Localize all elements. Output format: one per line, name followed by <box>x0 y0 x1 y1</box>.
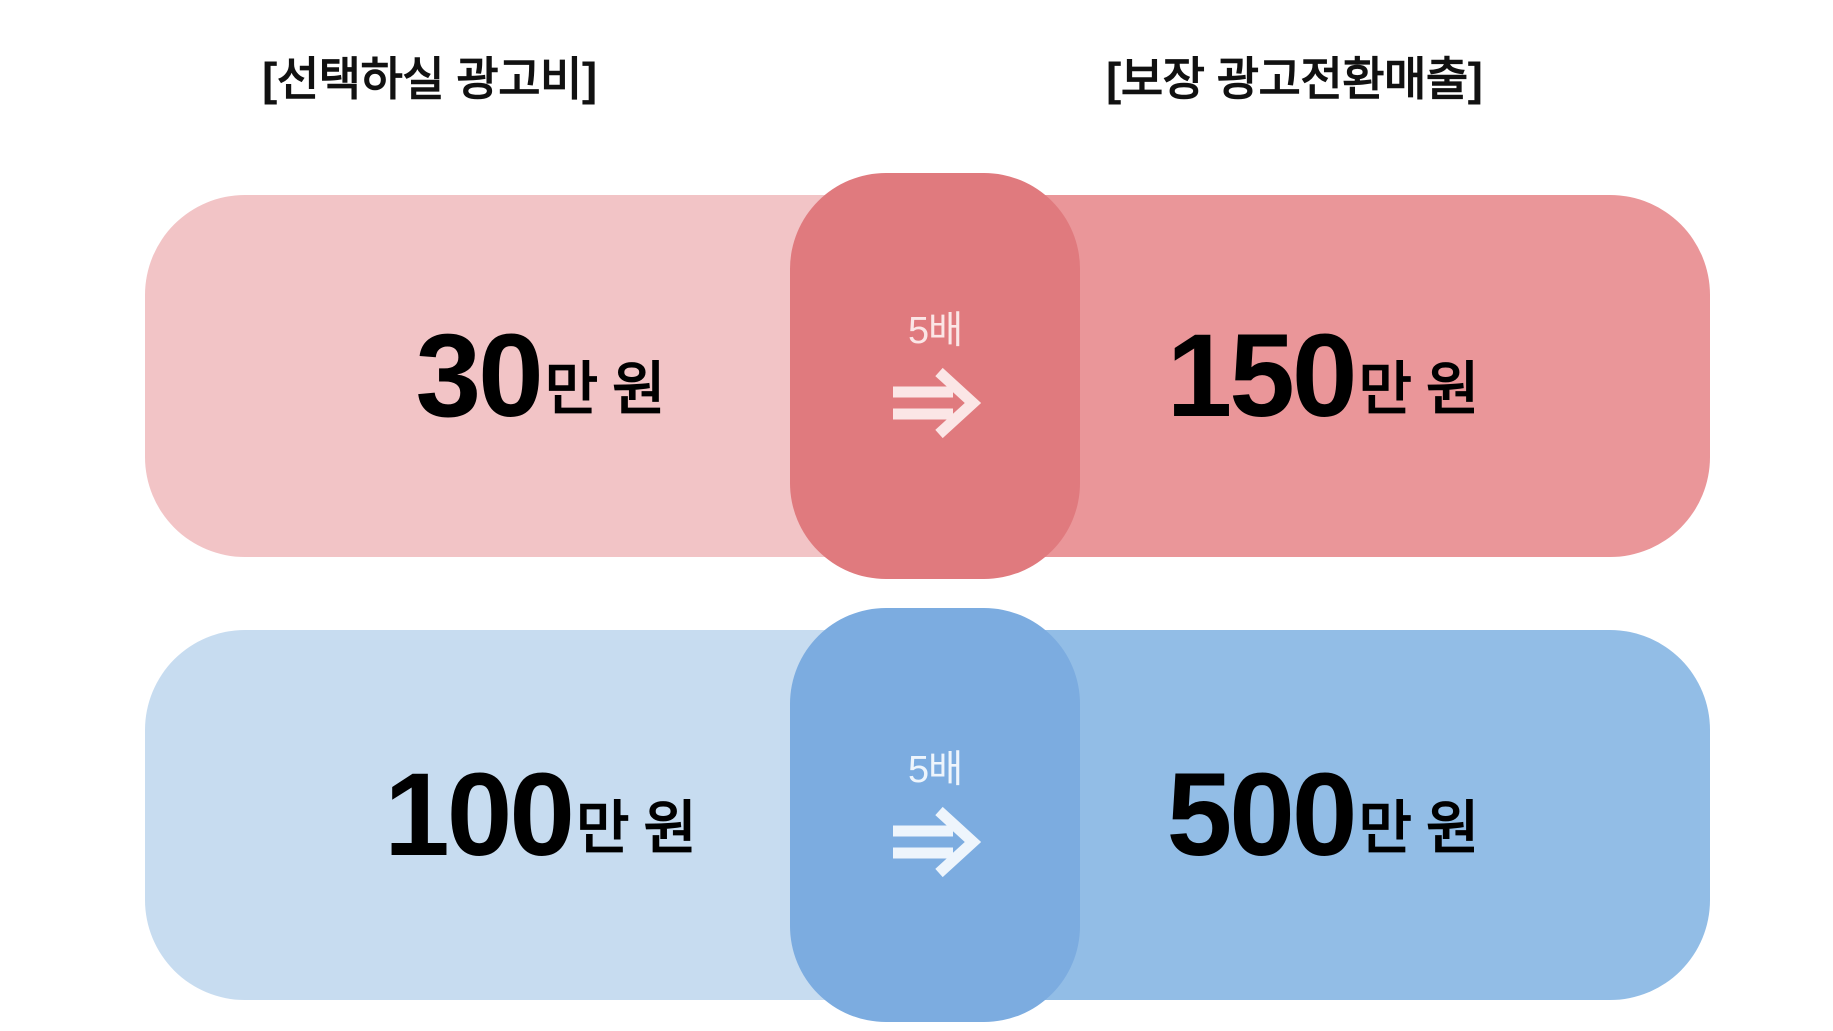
comparison-row-blue: 100 만 원 5배 500 만 원 <box>145 630 1710 1000</box>
blue-revenue-number: 500 <box>1167 756 1355 874</box>
header-ad-spend: [선택하실 광고비] <box>262 40 597 118</box>
pink-revenue-number: 150 <box>1167 317 1355 435</box>
pink-revenue-unit: 만 원 <box>1359 361 1479 419</box>
blue-multiplier-badge: 5배 <box>790 608 1080 1022</box>
column-headers: [선택하실 광고비] [보장 광고전환매출] <box>0 40 1833 120</box>
header-guaranteed-revenue: [보장 광고전환매출] <box>1106 40 1482 118</box>
double-arrow-right-icon <box>889 803 981 879</box>
blue-revenue-unit: 만 원 <box>1359 800 1479 858</box>
blue-ad-spend-number: 100 <box>384 756 572 874</box>
blue-ad-spend-unit: 만 원 <box>576 800 696 858</box>
blue-multiplier-label: 5배 <box>908 751 962 789</box>
pink-ad-spend-number: 30 <box>415 317 540 435</box>
infographic-canvas: [선택하실 광고비] [보장 광고전환매출] 30 만 원 5배 150 만 원 <box>0 0 1833 1031</box>
pink-multiplier-label: 5배 <box>908 312 962 350</box>
double-arrow-right-icon <box>889 364 981 440</box>
pink-ad-spend-unit: 만 원 <box>545 361 665 419</box>
pink-multiplier-badge: 5배 <box>790 173 1080 579</box>
comparison-row-pink: 30 만 원 5배 150 만 원 <box>145 195 1710 557</box>
